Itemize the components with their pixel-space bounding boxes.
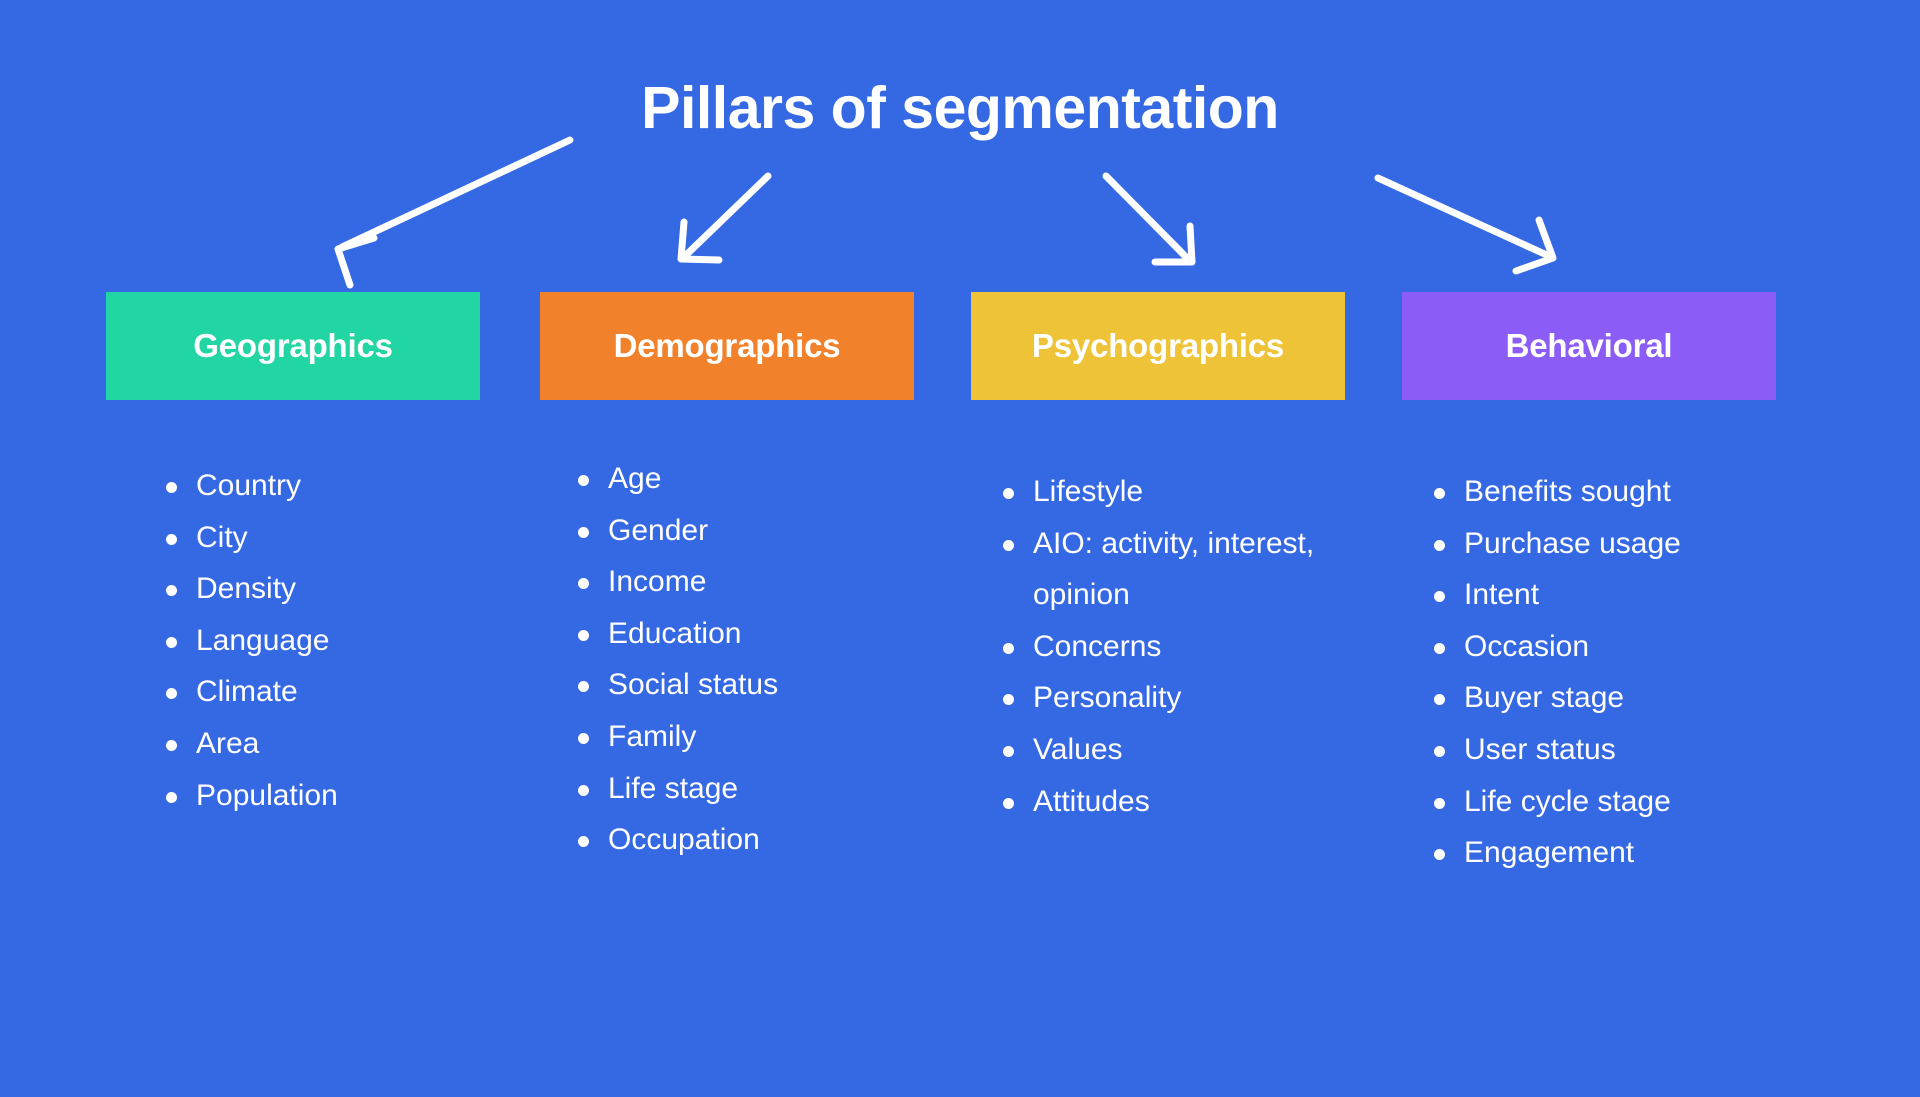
segment-column-behavioral: Behavioral Benefits sought Purchase usag…: [1402, 292, 1776, 879]
category-box-behavioral[interactable]: Behavioral: [1402, 292, 1776, 400]
list-item: Family: [564, 711, 914, 763]
list-item: AIO: activity, interest, opinion: [989, 518, 1345, 621]
segment-column-psychographics: Psychographics Lifestyle AIO: activity, …: [971, 292, 1345, 827]
arrow-to-behavioral-icon: [1378, 178, 1553, 271]
list-item: Attitudes: [989, 776, 1345, 828]
list-item: Language: [152, 615, 480, 667]
list-item: Concerns: [989, 621, 1345, 673]
list-item: Life cycle stage: [1420, 776, 1776, 828]
list-item: Age: [564, 453, 914, 505]
category-box-geographics[interactable]: Geographics: [106, 292, 480, 400]
list-item: Occupation: [564, 814, 914, 866]
list-item: Education: [564, 608, 914, 660]
category-label-geographics: Geographics: [193, 327, 393, 365]
list-item: Purchase usage: [1420, 518, 1776, 570]
list-item: City: [152, 512, 480, 564]
list-item: Country: [152, 460, 480, 512]
category-label-behavioral: Behavioral: [1506, 327, 1673, 365]
arrow-to-psychographics-icon: [1106, 176, 1192, 262]
infographic-canvas: Pillars of segmentation: [0, 0, 1920, 1097]
list-item: Occasion: [1420, 621, 1776, 673]
list-item: Gender: [564, 505, 914, 557]
list-item: User status: [1420, 724, 1776, 776]
list-item: Intent: [1420, 569, 1776, 621]
list-item: Personality: [989, 672, 1345, 724]
list-item: Engagement: [1420, 827, 1776, 879]
list-item: Lifestyle: [989, 466, 1345, 518]
list-item: Values: [989, 724, 1345, 776]
attribute-list-demographics: Age Gender Income Education Social statu…: [564, 453, 914, 866]
list-item: Benefits sought: [1420, 466, 1776, 518]
attribute-list-geographics: Country City Density Language Climate Ar…: [152, 460, 480, 821]
list-item: Climate: [152, 666, 480, 718]
list-item: Density: [152, 563, 480, 615]
attribute-list-psychographics: Lifestyle AIO: activity, interest, opini…: [989, 466, 1345, 827]
list-item: Buyer stage: [1420, 672, 1776, 724]
list-item: Population: [152, 770, 480, 822]
list-item: Area: [152, 718, 480, 770]
page-title: Pillars of segmentation: [0, 78, 1920, 140]
category-box-psychographics[interactable]: Psychographics: [971, 292, 1345, 400]
arrow-to-demographics-icon: [681, 176, 768, 260]
list-item: Income: [564, 556, 914, 608]
segment-column-geographics: Geographics Country City Density Languag…: [106, 292, 480, 821]
list-item: Life stage: [564, 763, 914, 815]
attribute-list-behavioral: Benefits sought Purchase usage Intent Oc…: [1420, 466, 1776, 879]
category-label-demographics: Demographics: [614, 327, 841, 365]
category-label-psychographics: Psychographics: [1032, 327, 1284, 365]
arrow-to-geographics-icon: [338, 140, 570, 285]
segment-column-demographics: Demographics Age Gender Income Education…: [540, 292, 914, 866]
category-box-demographics[interactable]: Demographics: [540, 292, 914, 400]
list-item: Social status: [564, 659, 914, 711]
